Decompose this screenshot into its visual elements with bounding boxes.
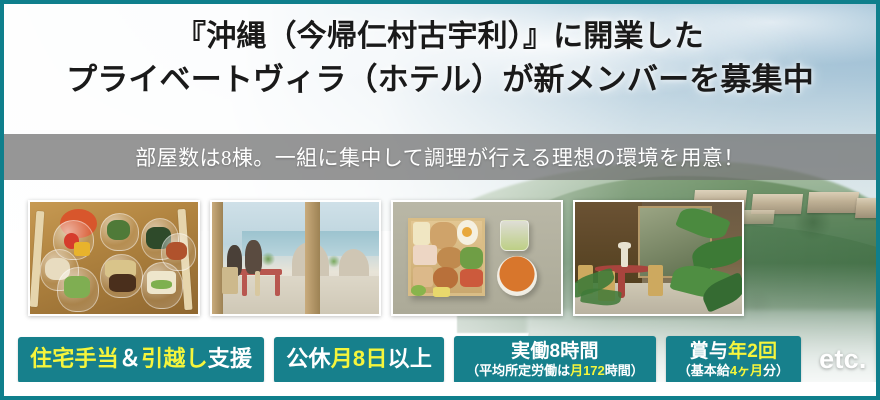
- subtitle-text: 部屋数は8棟。一組に集中して調理が行える理想の環境を用意！: [135, 142, 744, 172]
- badge-main-text: 実働8時間: [511, 341, 599, 362]
- badge-working-hours[interactable]: 実働8時間 （平均所定労働は月172時間）: [454, 336, 656, 384]
- photo-thumbnail-4: [573, 200, 745, 316]
- badge-text-part: 実働8時間: [511, 341, 599, 362]
- badge-main-text: 賞与年2回: [690, 341, 778, 362]
- badge-main-text: 公休月8日以上: [286, 347, 432, 372]
- badge-text-part: ＆: [119, 346, 141, 371]
- badge-main-text: 住宅手当＆引越し支援: [30, 347, 252, 372]
- badge-sub-text: （平均所定労働は月172時間）: [466, 363, 644, 378]
- subtitle-band: 部屋数は8棟。一組に集中して調理が行える理想の環境を用意！: [4, 134, 876, 180]
- photo-thumbnail-2: [210, 200, 382, 316]
- footer-white-strip: [4, 382, 876, 396]
- badge-text-part: 支援: [208, 346, 252, 371]
- job-ad-banner: 『沖縄（今帰仁村古宇利）』に開業した プライベートヴィラ（ホテル）が新メンバーを…: [0, 0, 880, 400]
- badge-text-part: 月8日: [331, 346, 388, 371]
- badge-housing-allowance[interactable]: 住宅手当＆引越し支援: [18, 337, 264, 383]
- badge-bonus[interactable]: 賞与年2回 （基本給4ヶ月分）: [666, 336, 801, 384]
- badge-text-part: 住宅手当: [30, 346, 119, 371]
- badge-holidays[interactable]: 公休月8日以上: [274, 337, 444, 383]
- badge-sub-text: （基本給4ヶ月分）: [678, 363, 789, 378]
- badge-text-part: 分）: [763, 363, 789, 378]
- badge-text-part: 年2回: [728, 341, 777, 362]
- badge-text-part: 4ヶ月: [730, 363, 763, 378]
- badge-text-part: 月172: [570, 363, 605, 378]
- badge-text-part: 時間）: [605, 363, 644, 378]
- benefit-badges: 住宅手当＆引越し支援 公休月8日以上 実働8時間 （平均所定労働は月172時間）…: [18, 336, 867, 384]
- badge-text-part: 賞与: [690, 341, 728, 362]
- photo-strip: [28, 200, 744, 316]
- headline: 『沖縄（今帰仁村古宇利）』に開業した プライベートヴィラ（ホテル）が新メンバーを…: [4, 18, 876, 100]
- badge-text-part: 以上: [388, 346, 432, 371]
- badge-text-part: 公休: [286, 346, 330, 371]
- photo-thumbnail-3: [391, 200, 563, 316]
- headline-line-1: 『沖縄（今帰仁村古宇利）』に開業した: [4, 18, 876, 56]
- badge-text-part: （平均所定労働は: [466, 363, 570, 378]
- headline-line-2: プライベートヴィラ（ホテル）が新メンバーを募集中: [4, 60, 876, 100]
- etc-label: etc.: [819, 344, 867, 375]
- badge-text-part: 引越し: [141, 346, 208, 371]
- badge-text-part: （基本給: [678, 363, 730, 378]
- photo-thumbnail-1: [28, 200, 200, 316]
